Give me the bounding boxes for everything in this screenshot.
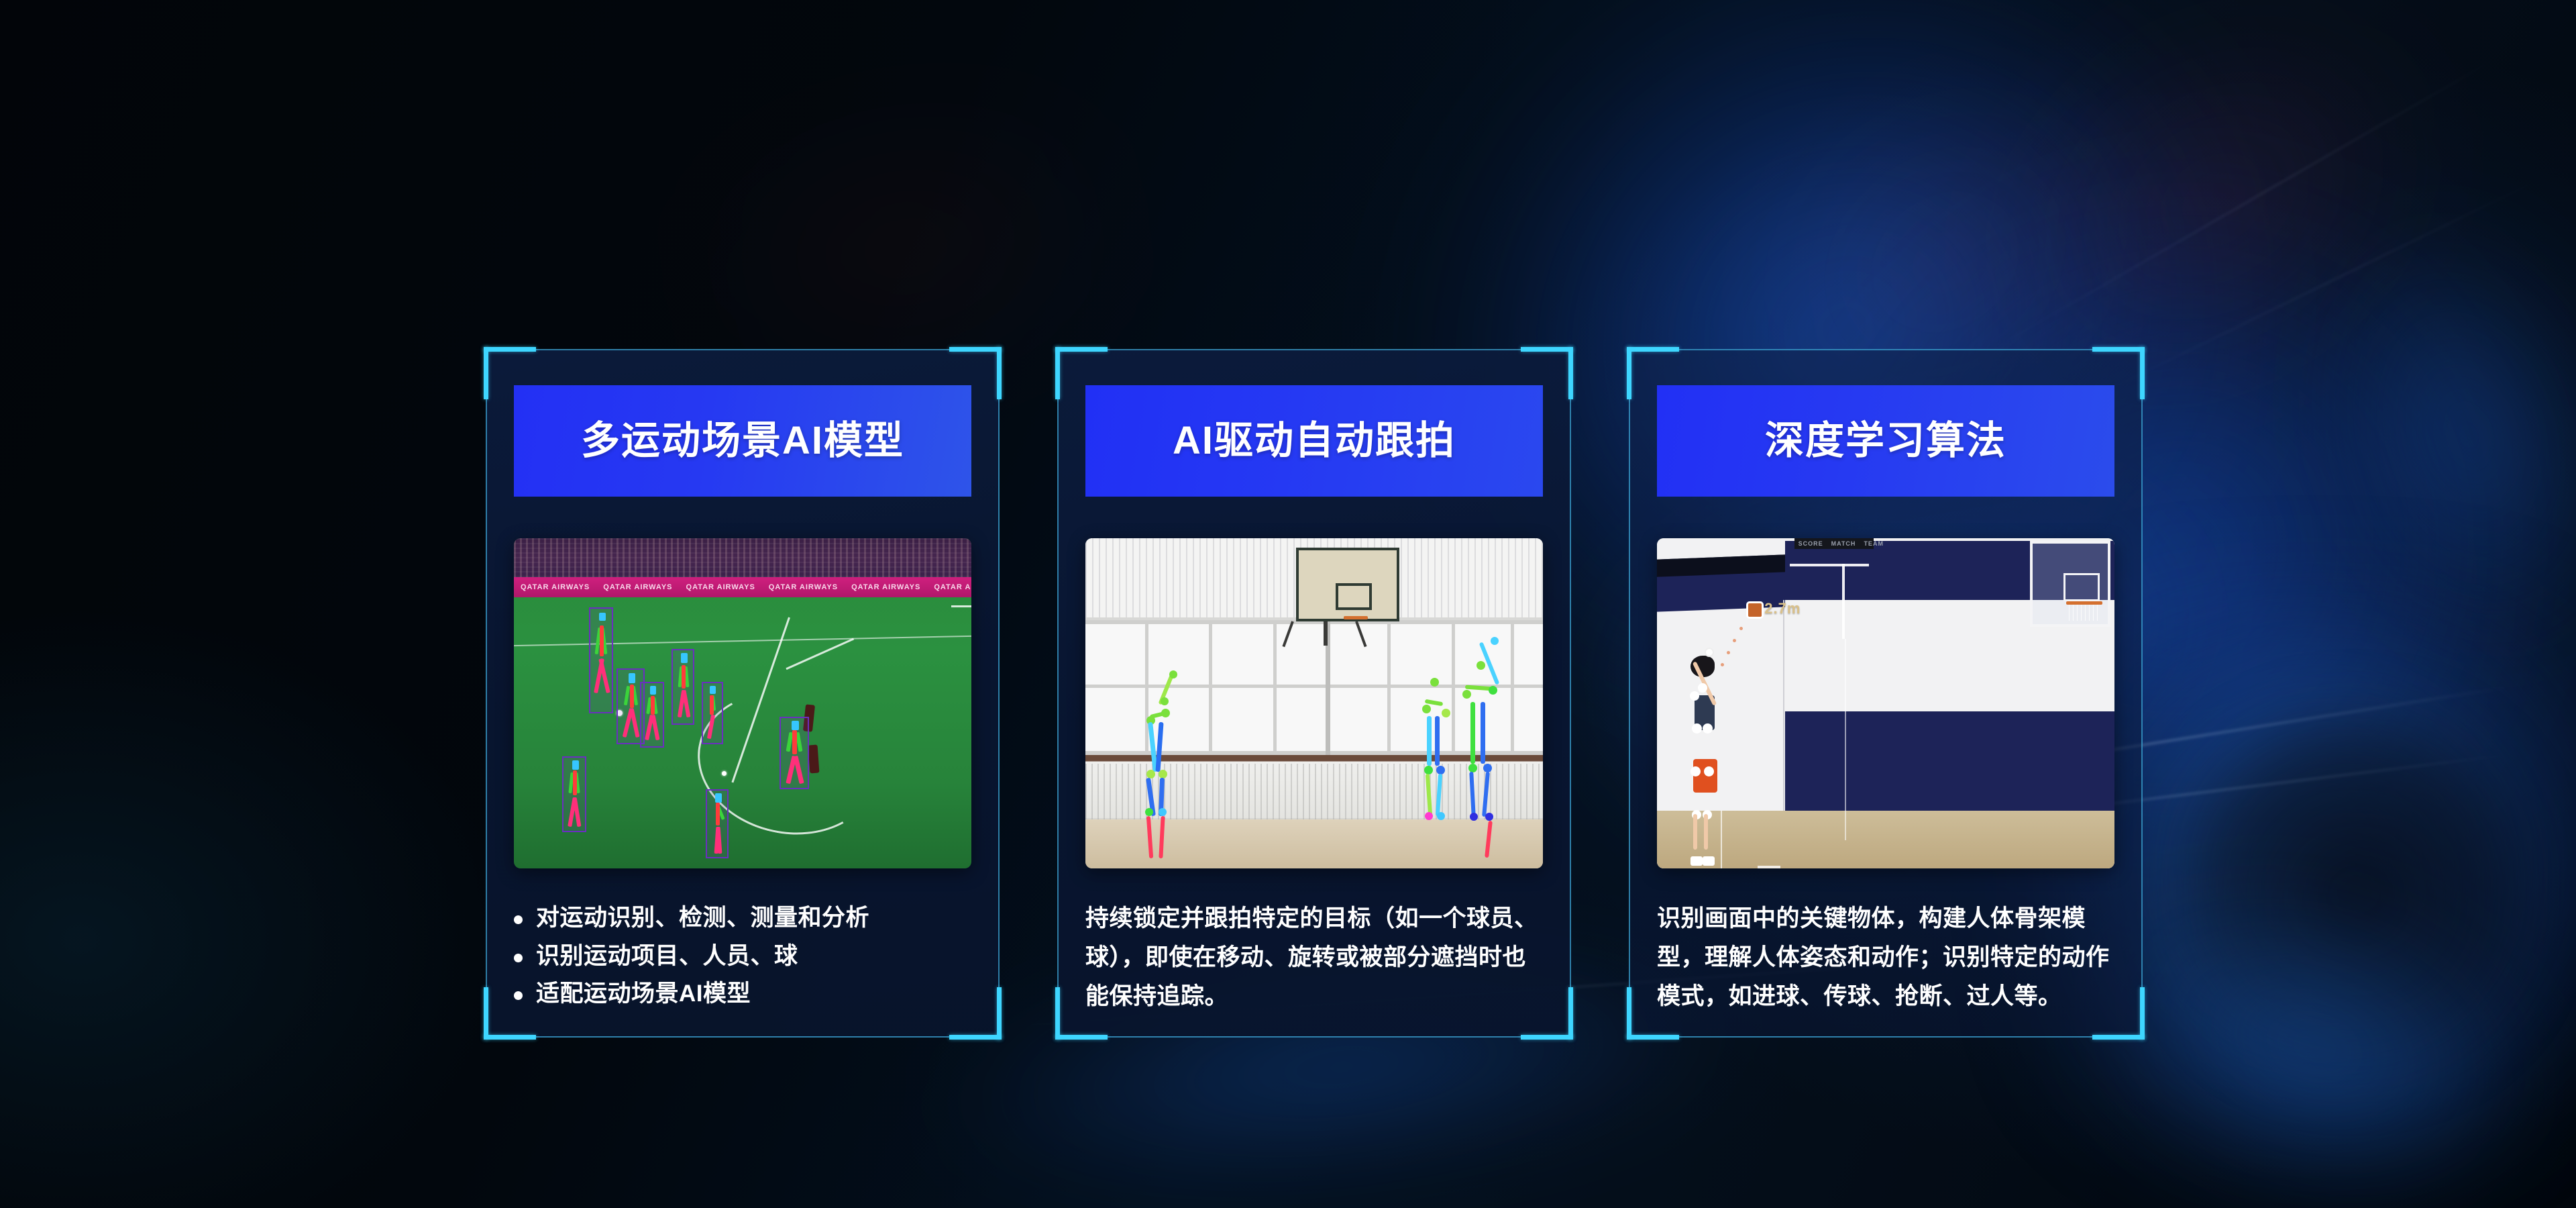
ad-text: QATAR AIRWAYS [762,583,845,591]
measurement-line-vertical [1842,564,1845,639]
bullet-dot [514,915,523,924]
bullet-text: 识别运动项目、人员、球 [536,938,798,976]
opponent-player [808,744,819,773]
bullet-text: 对运动识别、检测、测量和分析 [536,899,869,938]
list-item: 识别运动项目、人员、球 [514,938,971,976]
background-ribbon-core-shadow [2180,705,2529,1080]
advertising-board: QATAR AIRWAYS QATAR AIRWAYS QATAR AIRWAY… [514,577,971,597]
detection-box [640,682,664,748]
card-description: 识别画面中的关键物体，构建人体骨架模型，理解人体姿态和动作；识别特定的动作模式，… [1657,899,2114,1016]
pitch-line [786,638,854,670]
scoreboard-label: MATCH [1827,540,1860,547]
ad-text: QATAR AIRWAYS [596,583,679,591]
detection-box [702,682,723,744]
detection-box [780,717,809,789]
basketball-backboard [1296,548,1399,621]
card-title-banner: 多运动场景AI模型 [514,385,971,497]
backboard-square [2063,573,2100,601]
feature-card-deep-learning-algorithm[interactable]: 深度学习算法 SCORE [1629,349,2143,1038]
feature-card-row: 多运动场景AI模型 QATAR AIRWAYS QATAR AIRWAYS QA… [486,349,2143,1038]
background-streak-5 [2073,171,2556,407]
player-shoe [1703,856,1715,866]
tracked-ball-box [1746,601,1764,619]
stadium-crowd [514,538,971,581]
list-item: 对运动识别、检测、测量和分析 [514,899,971,938]
bullet-dot [514,991,523,1000]
card-title-banner: AI驱动自动跟拍 [1085,385,1543,497]
soccer-detection-thumbnail[interactable]: QATAR AIRWAYS QATAR AIRWAYS QATAR AIRWAY… [514,538,971,868]
feature-card-ai-auto-tracking[interactable]: AI驱动自动跟拍 [1057,349,1571,1038]
slide-background: 多运动场景AI模型 QATAR AIRWAYS QATAR AIRWAYS QA… [0,0,2576,1208]
ad-text: QATAR AIRWAYS [845,583,927,591]
card-body: 识别画面中的关键物体，构建人体骨架模型，理解人体姿态和动作；识别特定的动作模式，… [1657,899,2114,1016]
feature-card-multi-sport-ai-model[interactable]: 多运动场景AI模型 QATAR AIRWAYS QATAR AIRWAYS QA… [486,349,1000,1038]
tracked-person [1136,670,1189,862]
detection-box [562,756,586,832]
background-streak-4 [1986,50,2509,354]
card-body: 对运动识别、检测、测量和分析 识别运动项目、人员、球 适配运动场景AI模型 [514,899,971,1013]
hoop-pole [1324,621,1328,646]
ad-text: QATAR AIRWAYS [680,583,762,591]
detection-box [589,607,613,713]
ad-text: QATAR AIRWAYS [927,583,971,591]
tracked-person [1682,664,1729,862]
wall-navy-pad [1785,711,2114,820]
gym-skeleton-thumbnail[interactable] [1085,538,1543,868]
card-title-banner: 深度学习算法 [1657,385,2114,497]
card-body: 持续锁定并跟拍特定的目标（如一个球员、球），即使在移动、旋转或被部分遮挡时也能保… [1085,899,1543,1016]
bullet-text: 适配运动场景AI模型 [536,975,751,1013]
pitch-line [951,605,971,607]
tracked-person [1456,657,1512,862]
list-item: 适配运动场景AI模型 [514,975,971,1013]
detection-box [672,649,694,725]
court-measurement-thumbnail[interactable]: SCORE MATCH TEAM [1657,538,2114,868]
measurement-line-drop [1845,639,1846,840]
ad-text: QATAR AIRWAYS [514,583,596,591]
card-title: 多运动场景AI模型 [581,421,904,460]
detection-box [706,789,729,858]
scoreboard-label: SCORE [1794,540,1827,547]
scoreboard: SCORE MATCH TEAM [1794,538,1874,549]
player-shoe [1690,856,1703,866]
background-ribbon-right-edge [2205,94,2576,778]
card-title: 深度学习算法 [1765,421,2006,460]
card-title: AI驱动自动跟拍 [1173,421,1456,460]
measurement-line-horizontal [1790,564,1869,566]
measurement-label: 2.7m [1764,600,1801,617]
feature-bullet-list: 对运动识别、检测、测量和分析 识别运动项目、人员、球 适配运动场景AI模型 [514,899,971,1013]
bullet-dot [514,954,523,962]
basketball-rim [1344,616,1368,619]
basketball-net [2069,605,2100,621]
scoreboard-label: TEAM [1860,540,1888,547]
card-description: 持续锁定并跟拍特定的目标（如一个球员、球），即使在移动、旋转或被部分遮挡时也能保… [1085,899,1543,1016]
pitch-line [514,636,971,646]
backboard-square [1336,583,1372,610]
